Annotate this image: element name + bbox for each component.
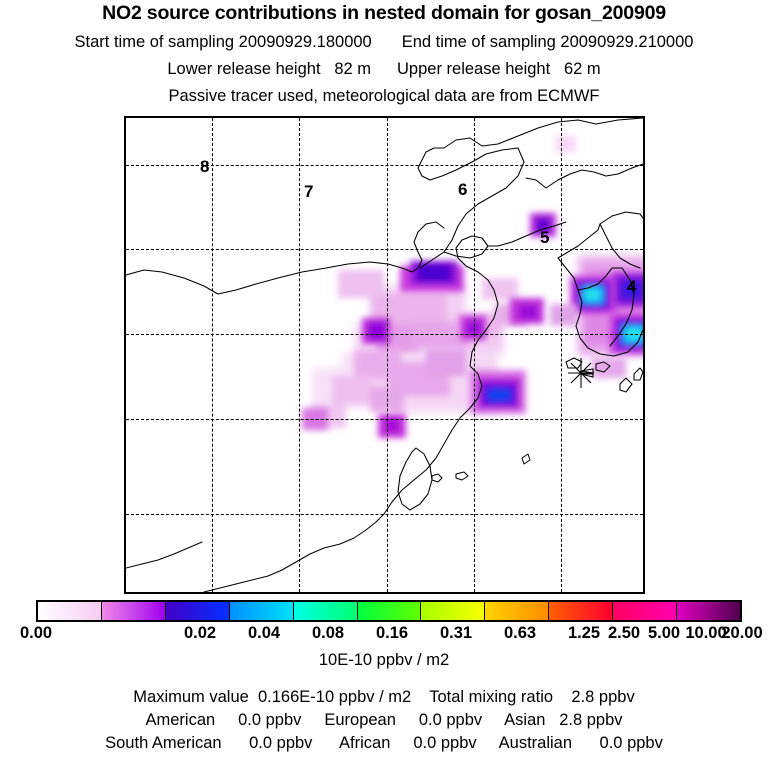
colorbar-band bbox=[421, 602, 485, 620]
colorbar-tick: 0.31 bbox=[440, 624, 472, 643]
colorbar-tick: 1.25 bbox=[568, 624, 600, 643]
colorbar-tick: 20.00 bbox=[721, 624, 762, 643]
region-name-australian: Australian bbox=[499, 734, 572, 752]
start-time-value: 20090929.180000 bbox=[239, 33, 372, 51]
colorbar-tick: 2.50 bbox=[608, 624, 640, 643]
star-marker bbox=[566, 358, 596, 388]
end-time-label: End time of sampling bbox=[402, 33, 556, 51]
grid-label-8: 8 bbox=[200, 158, 209, 175]
lower-release-label: Lower release height bbox=[167, 60, 320, 78]
grid-label-7: 7 bbox=[304, 183, 313, 200]
region-name-asian: Asian bbox=[504, 711, 545, 729]
map-plot-area: 8 7 6 5 4 bbox=[124, 116, 645, 594]
colorbar-tick: 0.08 bbox=[312, 624, 344, 643]
region-value-australian: 0.0 ppbv bbox=[600, 734, 663, 752]
colorbar-band bbox=[613, 602, 677, 620]
colorbar-band bbox=[166, 602, 230, 620]
max-value-value: 0.166E-10 ppbv / m2 bbox=[258, 688, 411, 706]
page-title: NO2 source contributions in nested domai… bbox=[0, 2, 768, 25]
colorbar-band bbox=[549, 602, 613, 620]
colorbar-band bbox=[485, 602, 549, 620]
total-ratio-label: Total mixing ratio bbox=[429, 688, 553, 706]
grid-label-5: 5 bbox=[540, 229, 549, 246]
grid-label-6: 6 bbox=[458, 181, 467, 198]
region-value-asian: 2.8 ppbv bbox=[559, 711, 622, 729]
region-name-european: European bbox=[324, 711, 396, 729]
colorbar-tick: 0.00 bbox=[20, 624, 52, 643]
region-name-american: American bbox=[145, 711, 215, 729]
upper-release-value: 62 m bbox=[564, 60, 601, 78]
region-value-european: 0.0 ppbv bbox=[419, 711, 482, 729]
footer-summary-row: Maximum value 0.166E-10 ppbv / m2 Total … bbox=[0, 688, 768, 707]
region-value-south-american: 0.0 ppbv bbox=[249, 734, 312, 752]
grid-label-4: 4 bbox=[627, 278, 636, 295]
colorbar-band bbox=[294, 602, 358, 620]
footer-region-row: South American 0.0 ppbv African 0.0 ppbv… bbox=[0, 734, 768, 753]
footer-region-row: American 0.0 ppbv European 0.0 ppbv Asia… bbox=[0, 711, 768, 730]
colorbar-tick: 0.04 bbox=[248, 624, 280, 643]
release-height-row: Lower release height 82 mUpper release h… bbox=[0, 60, 768, 79]
map-canvas: 8 7 6 5 4 bbox=[126, 118, 643, 592]
upper-release-label: Upper release height bbox=[397, 60, 550, 78]
star-marker-icon bbox=[566, 358, 596, 388]
colorbar-band bbox=[230, 602, 294, 620]
colorbar-band bbox=[102, 602, 166, 620]
region-name-african: African bbox=[339, 734, 390, 752]
colorbar-tick: 0.16 bbox=[376, 624, 408, 643]
colorbar-band bbox=[677, 602, 740, 620]
colorbar-tick: 0.63 bbox=[504, 624, 536, 643]
colorbar bbox=[36, 600, 742, 622]
tracer-note: Passive tracer used, meteorological data… bbox=[0, 87, 768, 106]
colorbar-tick: 5.00 bbox=[648, 624, 680, 643]
end-time-value: 20090929.210000 bbox=[560, 33, 693, 51]
colorbar-unit-label: 10E-10 ppbv / m2 bbox=[0, 651, 768, 670]
max-value-label: Maximum value bbox=[133, 688, 249, 706]
sampling-time-row: Start time of sampling 20090929.180000En… bbox=[0, 33, 768, 52]
lower-release-value: 82 m bbox=[334, 60, 371, 78]
start-time-label: Start time of sampling bbox=[75, 33, 235, 51]
total-ratio-value: 2.8 ppbv bbox=[571, 688, 634, 706]
colorbar-tick-labels: 0.00 0.02 0.04 0.08 0.16 0.31 0.63 1.25 … bbox=[0, 624, 768, 646]
colorbar-band bbox=[358, 602, 422, 620]
region-value-american: 0.0 ppbv bbox=[238, 711, 301, 729]
region-name-south-american: South American bbox=[105, 734, 221, 752]
region-value-african: 0.0 ppbv bbox=[413, 734, 476, 752]
colorbar-tick: 0.02 bbox=[184, 624, 216, 643]
coastline-overlay bbox=[126, 118, 643, 592]
dispersion-plot-page: NO2 source contributions in nested domai… bbox=[0, 0, 768, 768]
colorbar-band bbox=[38, 602, 102, 620]
